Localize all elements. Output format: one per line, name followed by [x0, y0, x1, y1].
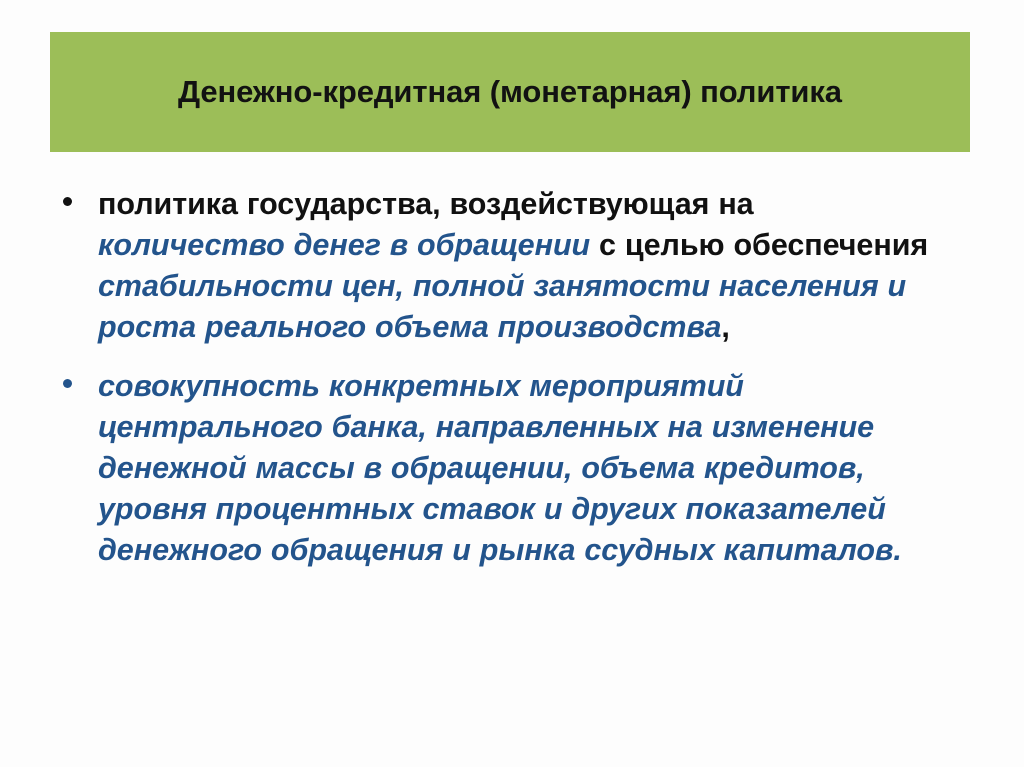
list-item: совокупность конкретных мероприятий цент…	[55, 366, 975, 571]
list-item: политика государства, воздействующая на …	[55, 184, 975, 348]
list-item-text: политика государства, воздействующая на …	[98, 184, 975, 348]
bullet-1-plain-1: с целью обеспечения	[590, 228, 928, 262]
list-item-text: совокупность конкретных мероприятий цент…	[98, 366, 975, 571]
bullet-1-emphasis-1: количество денег в обращении	[98, 228, 590, 262]
bullet-1-trailing-comma: ,	[721, 310, 729, 344]
title-banner: Денежно-кредитная (монетарная) политика	[50, 32, 970, 152]
bullet-list: политика государства, воздействующая на …	[55, 184, 975, 571]
slide-canvas: Денежно-кредитная (монетарная) политика …	[0, 0, 1024, 767]
page-title: Денежно-кредитная (монетарная) политика	[178, 75, 842, 109]
bullet-1-emphasis-2: стабильности цен, полной занятости насел…	[98, 269, 906, 344]
bullet-point-icon	[63, 197, 72, 206]
bullet-1-line-1-black: политика государства, воздействующая на	[98, 187, 754, 221]
bullet-point-icon	[63, 379, 72, 388]
